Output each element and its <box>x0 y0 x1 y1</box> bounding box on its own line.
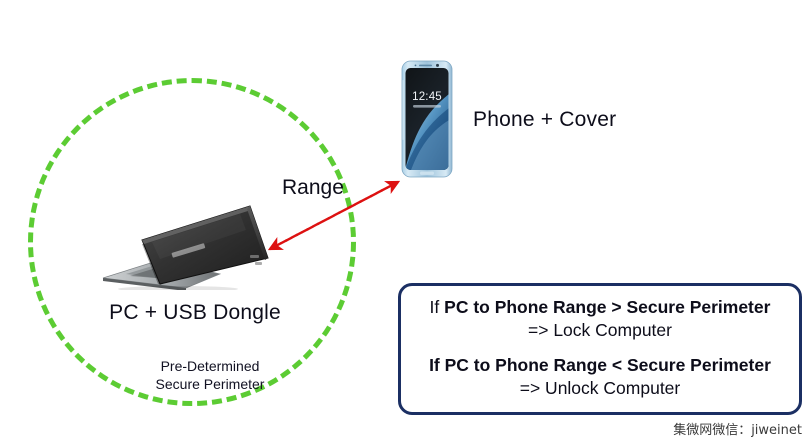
rule-action: => Lock Computer <box>411 319 789 342</box>
rule-spacer <box>411 342 789 354</box>
pc-label: PC + USB Dongle <box>60 300 330 326</box>
rule-condition-text: PC to Phone Range < Secure Perimeter <box>445 355 771 375</box>
rule-item: If PC to Phone Range > Secure Perimeter … <box>411 296 789 342</box>
rule-condition: If PC to Phone Range > Secure Perimeter <box>411 296 789 319</box>
rule-condition-text: PC to Phone Range > Secure Perimeter <box>444 297 770 317</box>
range-label: Range <box>282 176 344 200</box>
rule-if-prefix: If <box>429 355 445 375</box>
phone-image: 12:45 <box>401 60 453 178</box>
svg-text:12:45: 12:45 <box>412 91 442 103</box>
secure-perimeter-label: Pre-Determined Secure Perimeter <box>120 357 300 393</box>
rule-condition: If PC to Phone Range < Secure Perimeter <box>411 354 789 377</box>
phone-label: Phone + Cover <box>473 106 616 134</box>
rule-if-prefix: If <box>430 297 445 317</box>
rule-box: If PC to Phone Range > Secure Perimeter … <box>398 283 802 415</box>
watermark: 集微网微信：jiweinet <box>673 422 802 440</box>
diagram-canvas: Pre-Determined Secure Perimeter <box>0 0 812 445</box>
laptop-image <box>100 200 272 290</box>
rule-item: If PC to Phone Range < Secure Perimeter … <box>411 354 789 400</box>
rule-action: => Unlock Computer <box>411 377 789 400</box>
